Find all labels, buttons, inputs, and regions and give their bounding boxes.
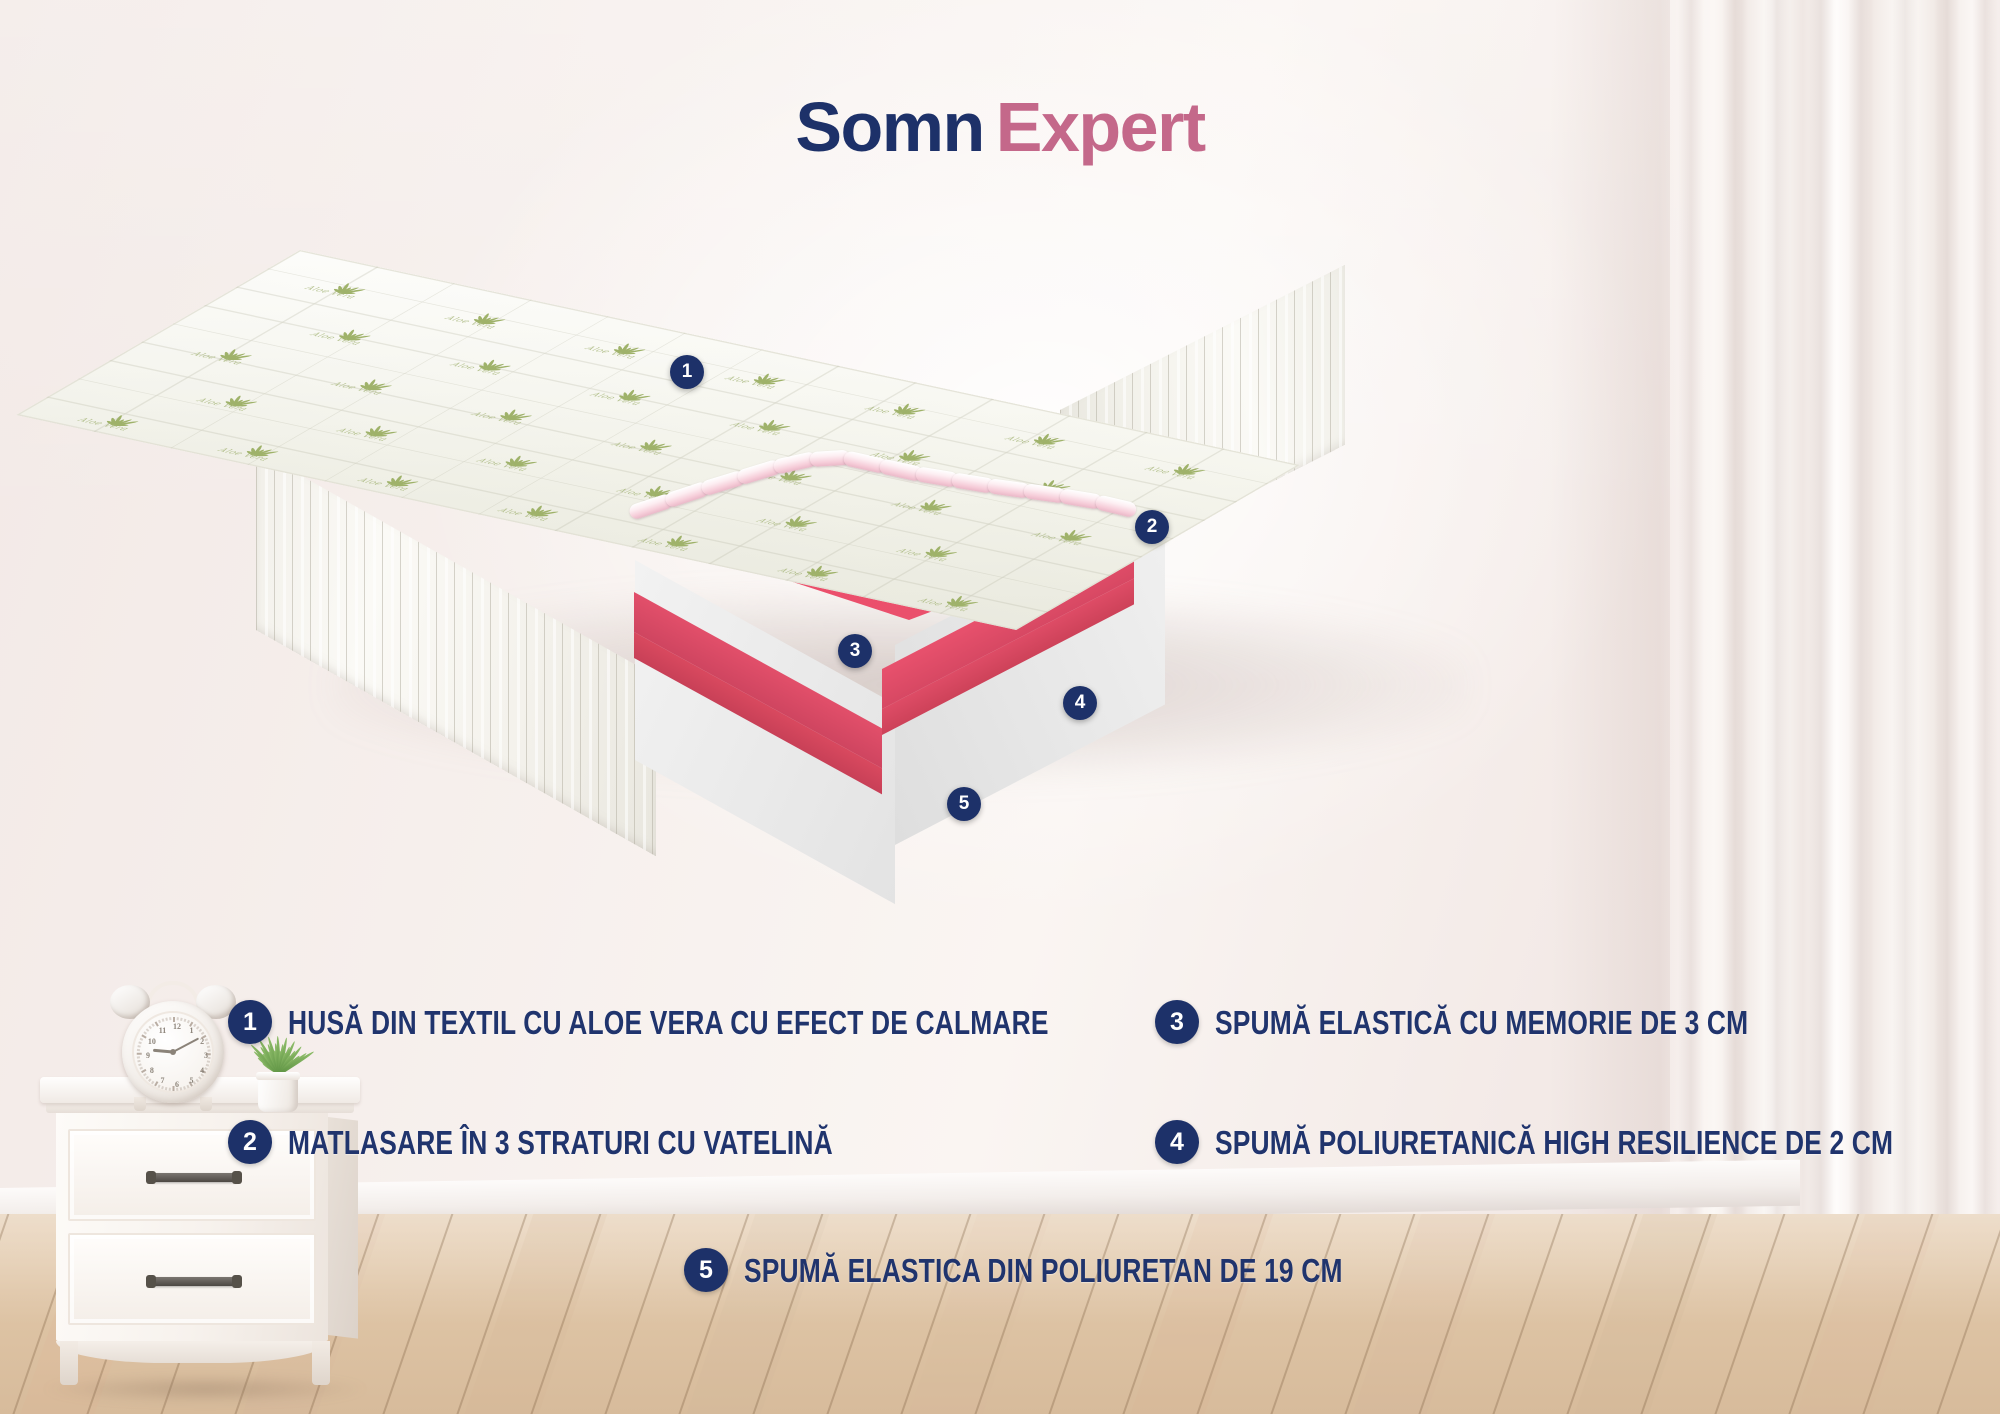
mattress-rib [463,567,466,749]
callout-marker-1[interactable]: 1 [670,355,704,389]
clock-tick [138,1042,141,1044]
mattress-rib [283,465,286,647]
quilted-flap-vatelina [630,448,1160,518]
mattress-rib [562,623,563,804]
clock-numeral: 12 [173,1022,181,1031]
clock-tick [162,1086,164,1089]
nightstand-leg-right [312,1341,330,1385]
mattress-rib [292,470,293,651]
legend-label-4: SPUMĂ POLIURETANICĂ HIGH RESILIENCE DE 2… [1215,1126,1893,1159]
clock-numeral: 2 [198,1037,206,1046]
nightstand-apron [56,1341,328,1363]
legend-badge-5-number: 5 [699,1256,713,1285]
legend-badge-1: 1 [228,1000,272,1044]
callout-marker-3-number: 3 [850,640,861,662]
mattress-rib [364,511,365,692]
mattress-rib [598,643,599,824]
clock-numeral: 3 [202,1051,210,1060]
clock-tick [169,1017,171,1020]
callout-marker-5-number: 5 [959,793,970,815]
legend-label-3: SPUMĂ ELASTICĂ CU MEMORIE DE 3 CM [1215,1006,1748,1039]
clock-numeral: 8 [148,1066,156,1075]
drawer-handle-top[interactable] [148,1173,240,1182]
infographic-canvas: SomnExpert Aloe VeraAloe VeraAloe VeraAl… [0,0,2000,1414]
legend-badge-4-number: 4 [1170,1128,1184,1157]
clock-tick [137,1049,140,1051]
clock-tick [137,1057,140,1059]
mattress-rib [427,547,430,729]
legend-item-4[interactable]: 4 SPUMĂ POLIURETANICĂ HIGH RESILIENCE DE… [1155,1120,2000,1164]
clock-numeral: 5 [188,1076,196,1085]
brand-name-secondary: Expert [996,88,1205,166]
mattress-rib [310,481,311,662]
plant-pot-rim [256,1072,300,1080]
clock-face: 123456789101112 [132,1011,214,1093]
mattress-rib [400,531,401,712]
clock-tick [151,1081,154,1084]
legend-badge-3-number: 3 [1170,1008,1184,1037]
clock-tick [148,1026,151,1029]
mattress-rib [481,577,484,759]
callout-marker-1-number: 1 [682,361,693,383]
curtain-fold [1934,0,1960,1218]
curtain-fold [1972,0,1998,1218]
clock-numeral: 10 [148,1037,156,1046]
mattress-rib [553,618,556,800]
mattress-rib [571,628,574,810]
clock-tick [140,1067,143,1070]
mattress-rib [409,537,412,719]
clock-tick [158,1020,161,1023]
mattress-rib [472,572,473,753]
mattress-rib [535,608,538,790]
mattress-rib [526,603,527,784]
clock-tick [180,1018,182,1021]
clock-numeral: 6 [173,1080,181,1089]
callout-marker-2[interactable]: 2 [1135,510,1169,544]
clock-tick [169,1088,171,1091]
legend-badge-2-number: 2 [243,1128,257,1157]
mattress-rib [508,593,509,774]
legend-item-5[interactable]: 5 SPUMĂ ELASTICA DIN POLIURETAN DE 19 CM [684,1248,1492,1292]
mattress-rib [490,582,491,763]
legend-badge-2: 2 [228,1120,272,1164]
legend-badge-3: 3 [1155,1000,1199,1044]
clock-tick [177,1017,179,1020]
legend-label-1: HUSĂ DIN TEXTIL CU ALOE VERA CU EFECT DE… [288,1006,1049,1039]
mattress-rib [265,455,268,637]
mattress-rib [355,506,358,688]
clock-tick [143,1032,146,1035]
clock-numeral: 7 [159,1076,167,1085]
clock-center-hub [170,1049,176,1055]
mattress-rib [454,562,455,743]
clock-numeral: 1 [188,1026,196,1035]
curtain-fold [1892,0,1918,1218]
clock-tick [184,1019,186,1022]
legend-item-2[interactable]: 2 MATLASARE ÎN 3 STRATURI CU VATELINĂ [228,1120,969,1164]
clock-tick [158,1085,161,1088]
clock-tick [207,1060,210,1062]
clock-foot-right [200,1097,212,1111]
mattress-rib [391,526,394,708]
legend-label-2: MATLASARE ÎN 3 STRATURI CU VATELINĂ [288,1126,833,1159]
brand-name-primary: Somn [795,88,983,166]
clock-tick [143,1073,146,1076]
mattress-rib [328,491,329,672]
clock-tick [146,1029,149,1032]
clock-tick [196,1079,199,1082]
mattress-rib [319,486,322,668]
clock-tick [187,1085,190,1088]
nightstand-drawer-bottom[interactable] [68,1233,316,1325]
clock-tick [201,1032,204,1035]
mattress-rib [418,542,419,723]
mattress-rib [301,475,304,657]
mattress-rib [580,633,581,814]
mattress-rib [1321,275,1324,457]
mattress-rib [517,598,520,780]
clock-numeral: 4 [198,1066,206,1075]
clock-tick [184,1086,186,1089]
mattress-rib [256,450,257,631]
clock-tick [138,1064,141,1066]
legend-label-5: SPUMĂ ELASTICA DIN POLIURETAN DE 19 CM [744,1254,1343,1287]
mattress-rib [1303,285,1306,467]
mattress-rib [445,557,448,739]
mattress-rib [1294,290,1295,471]
drawer-handle-bottom[interactable] [148,1277,240,1286]
clock-tick [206,1042,209,1044]
clock-tick [206,1064,209,1066]
clock-tick [199,1076,202,1079]
vatelina-flap-segment [1094,494,1137,518]
clock-numeral: 11 [159,1026,167,1035]
mattress-rib [337,496,340,678]
clock-tick [187,1020,190,1023]
callout-marker-2-number: 2 [1147,516,1158,538]
alarm-clock-icon: 123456789101112 [108,985,238,1090]
legend-item-1[interactable]: 1 HUSĂ DIN TEXTIL CU ALOE VERA CU EFECT … [228,1000,1239,1044]
clock-tick [141,1035,146,1039]
clock-tick [165,1018,167,1021]
legend-badge-5: 5 [684,1248,728,1292]
mattress-rib [589,638,592,820]
mattress-rib [373,516,376,698]
mattress-rib [499,587,502,769]
mattress-rib [436,552,437,733]
clock-minute-hand [173,1038,200,1053]
nightstand-leg-left [60,1341,78,1385]
mattress-rib [625,659,628,841]
mattress-rib [346,501,347,682]
mattress-rib [1312,281,1313,462]
mattress-rib [382,521,383,702]
clock-tick [199,1029,202,1032]
callout-marker-4-number: 4 [1075,692,1086,714]
callout-marker-4[interactable]: 4 [1063,686,1097,720]
mattress-rib [1285,294,1288,476]
callout-marker-3[interactable]: 3 [838,634,872,668]
clock-numeral: 9 [144,1051,152,1060]
clock-tick [151,1024,154,1027]
legend-badge-4: 4 [1155,1120,1199,1164]
clock-tick [162,1019,164,1022]
clock-tick [148,1079,151,1082]
mattress-rib [1330,272,1331,453]
clock-tick [165,1087,167,1090]
clock-tick [137,1046,140,1048]
mattress-rib [544,613,545,794]
mattress-rib [1339,266,1342,448]
brand-logo: SomnExpert [0,92,2000,162]
mattress-rib [616,654,617,835]
clock-tick [137,1060,140,1062]
clock-foot-left [134,1097,146,1111]
mattress-rib [607,649,610,831]
clock-tick [140,1038,143,1041]
clock-tick [207,1046,210,1048]
callout-marker-5[interactable]: 5 [947,787,981,821]
legend-badge-1-number: 1 [243,1008,257,1037]
legend-item-3[interactable]: 3 SPUMĂ ELASTICĂ CU MEMORIE DE 3 CM [1155,1000,1882,1044]
mattress-rib [1276,299,1277,480]
clock-tick [137,1053,142,1055]
mattress-rib [274,460,275,641]
